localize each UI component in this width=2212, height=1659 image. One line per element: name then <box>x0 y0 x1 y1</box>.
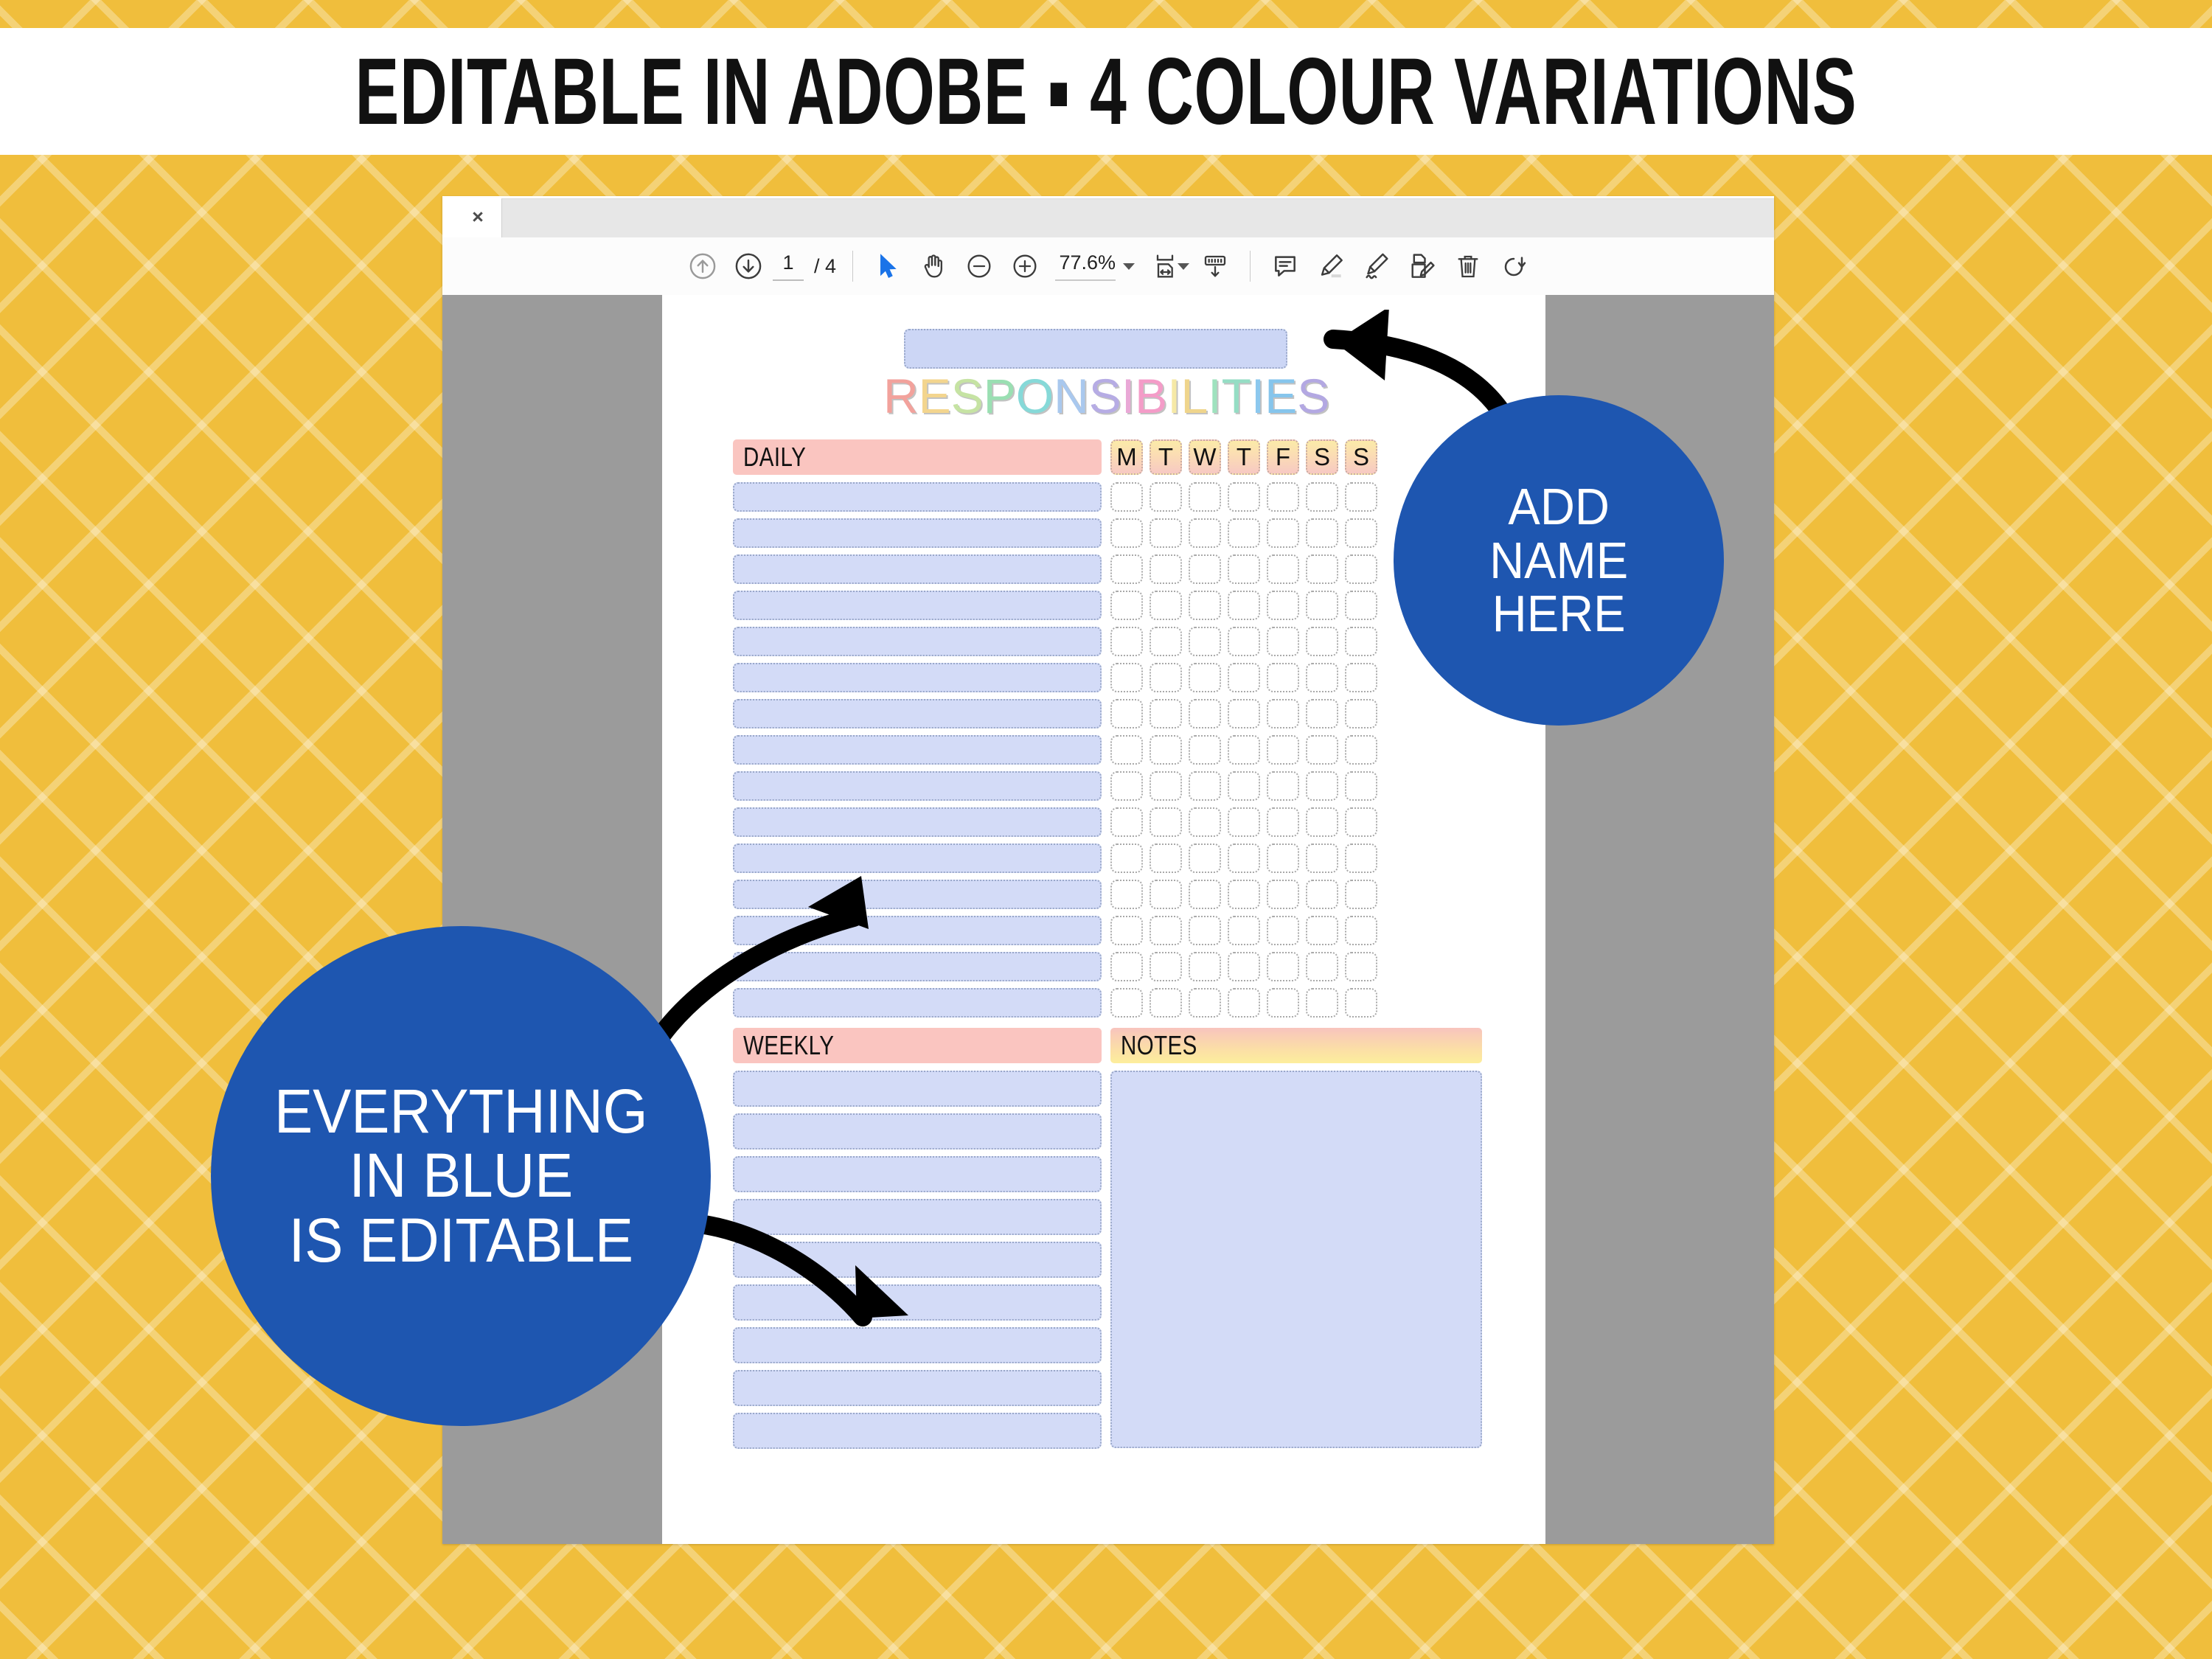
daily-task-field[interactable] <box>733 844 1102 873</box>
daily-checkbox[interactable] <box>1189 880 1221 909</box>
daily-checkbox[interactable] <box>1345 880 1377 909</box>
daily-checkbox[interactable] <box>1110 880 1143 909</box>
daily-checkbox-group <box>1110 807 1377 837</box>
tab-background[interactable] <box>501 198 1774 238</box>
daily-checkbox[interactable] <box>1228 952 1260 981</box>
zoom-level-input[interactable]: 77.6% <box>1055 251 1116 281</box>
daily-checkbox[interactable] <box>1267 807 1299 837</box>
daily-section-header-row: DAILY MTWTFSS <box>733 439 1482 475</box>
daily-task-field[interactable] <box>733 554 1102 584</box>
daily-task-field[interactable] <box>733 988 1102 1018</box>
daily-checkbox[interactable] <box>1267 518 1299 548</box>
daily-checkbox[interactable] <box>1189 807 1221 837</box>
daily-row <box>733 699 1482 728</box>
weekly-header-bar: WEEKLY <box>733 1028 1102 1063</box>
daily-row <box>733 663 1482 692</box>
title-letter-1: E <box>919 369 951 423</box>
daily-task-field[interactable] <box>733 952 1102 981</box>
daily-checkbox-group <box>1110 591 1377 620</box>
promo-banner-text: EDITABLE IN ADOBE ▪ 4 COLOUR VARIATIONS <box>355 38 1857 146</box>
daily-checkbox[interactable] <box>1306 771 1338 801</box>
toolbar-divider <box>852 251 853 282</box>
daily-checkbox[interactable] <box>1110 591 1143 620</box>
weekly-section: WEEKLY <box>733 1028 1102 1455</box>
daily-checkbox-group <box>1110 663 1377 692</box>
promo-banner: EDITABLE IN ADOBE ▪ 4 COLOUR VARIATIONS <box>0 28 2212 155</box>
daily-checkbox[interactable] <box>1267 699 1299 728</box>
daily-checkbox[interactable] <box>1228 916 1260 945</box>
daily-task-field[interactable] <box>733 482 1102 512</box>
daily-checkbox[interactable] <box>1150 482 1182 512</box>
daily-checkbox-group <box>1110 554 1377 584</box>
daily-checkbox[interactable] <box>1189 699 1221 728</box>
daily-checkbox[interactable] <box>1306 952 1338 981</box>
daily-checkbox[interactable] <box>1306 554 1338 584</box>
daily-checkbox[interactable] <box>1189 844 1221 873</box>
daily-row <box>733 482 1482 512</box>
daily-header-label: DAILY <box>743 442 806 473</box>
notes-header-label: NOTES <box>1121 1030 1197 1061</box>
weekly-task-field[interactable] <box>733 1413 1102 1449</box>
daily-checkbox[interactable] <box>1228 771 1260 801</box>
weekday-tile-5: S <box>1306 439 1338 475</box>
daily-checkbox[interactable] <box>1110 663 1143 692</box>
notes-textarea[interactable] <box>1110 1071 1482 1448</box>
zoom-in-icon[interactable] <box>1002 243 1048 289</box>
daily-checkbox[interactable] <box>1306 735 1338 765</box>
daily-task-field[interactable] <box>733 880 1102 909</box>
daily-checkbox[interactable] <box>1110 699 1143 728</box>
stamp-edit-icon[interactable] <box>1399 243 1445 289</box>
daily-checkbox[interactable] <box>1306 699 1338 728</box>
daily-checkbox[interactable] <box>1150 952 1182 981</box>
daily-checkbox[interactable] <box>1189 518 1221 548</box>
next-page-icon[interactable] <box>726 243 771 289</box>
title-letter-10: L <box>1181 369 1208 423</box>
daily-checkbox[interactable] <box>1228 988 1260 1018</box>
daily-checkbox[interactable] <box>1189 735 1221 765</box>
daily-checkbox[interactable] <box>1345 699 1377 728</box>
title-letter-6: S <box>1089 369 1121 423</box>
daily-task-field[interactable] <box>733 518 1102 548</box>
daily-checkbox[interactable] <box>1267 591 1299 620</box>
weekday-tile-3: T <box>1228 439 1260 475</box>
daily-checkbox[interactable] <box>1345 952 1377 981</box>
daily-header-bar: DAILY <box>733 439 1102 475</box>
weekly-task-field[interactable] <box>733 1242 1102 1278</box>
daily-row <box>733 554 1482 584</box>
daily-checkbox[interactable] <box>1345 663 1377 692</box>
daily-checkbox[interactable] <box>1345 916 1377 945</box>
weekly-header-label: WEEKLY <box>743 1030 834 1061</box>
daily-checkbox[interactable] <box>1110 518 1143 548</box>
hand-tool-icon[interactable] <box>911 243 956 289</box>
daily-checkbox[interactable] <box>1228 699 1260 728</box>
daily-rows <box>733 482 1482 1018</box>
weekly-task-field[interactable] <box>733 1156 1102 1192</box>
daily-task-field[interactable] <box>733 627 1102 656</box>
daily-checkbox[interactable] <box>1110 844 1143 873</box>
daily-row <box>733 844 1482 873</box>
daily-checkbox[interactable] <box>1345 771 1377 801</box>
daily-checkbox[interactable] <box>1267 663 1299 692</box>
lower-sections: WEEKLY NOTES <box>733 1028 1482 1455</box>
daily-checkbox[interactable] <box>1228 482 1260 512</box>
daily-row <box>733 880 1482 909</box>
daily-checkbox[interactable] <box>1228 663 1260 692</box>
daily-checkbox[interactable] <box>1306 482 1338 512</box>
title-letter-3: P <box>984 369 1016 423</box>
daily-checkbox[interactable] <box>1267 627 1299 656</box>
daily-checkbox[interactable] <box>1306 518 1338 548</box>
daily-checkbox[interactable] <box>1150 988 1182 1018</box>
weekly-task-field[interactable] <box>733 1370 1102 1406</box>
daily-checkbox[interactable] <box>1345 591 1377 620</box>
zoom-out-icon[interactable] <box>956 243 1002 289</box>
daily-checkbox[interactable] <box>1345 554 1377 584</box>
daily-task-field[interactable] <box>733 807 1102 837</box>
daily-checkbox-group <box>1110 699 1377 728</box>
daily-checkbox[interactable] <box>1228 844 1260 873</box>
daily-checkbox[interactable] <box>1189 952 1221 981</box>
daily-checkbox[interactable] <box>1150 627 1182 656</box>
daily-checkbox[interactable] <box>1345 735 1377 765</box>
daily-row <box>733 988 1482 1018</box>
daily-checkbox-group <box>1110 988 1377 1018</box>
daily-checkbox[interactable] <box>1150 699 1182 728</box>
daily-checkbox[interactable] <box>1150 735 1182 765</box>
daily-checkbox[interactable] <box>1150 844 1182 873</box>
weekly-task-field[interactable] <box>733 1199 1102 1235</box>
daily-checkbox[interactable] <box>1150 807 1182 837</box>
daily-checkbox-group <box>1110 952 1377 981</box>
highlight-icon[interactable] <box>1308 243 1354 289</box>
daily-checkbox[interactable] <box>1306 844 1338 873</box>
daily-checkbox[interactable] <box>1306 663 1338 692</box>
daily-checkbox-group <box>1110 627 1377 656</box>
daily-checkbox[interactable] <box>1150 554 1182 584</box>
title-letter-14: E <box>1265 369 1297 423</box>
add-name-here-callout: ADDNAMEHERE <box>1394 395 1724 726</box>
rotate-icon[interactable] <box>1491 243 1537 289</box>
daily-row <box>733 591 1482 620</box>
title-letter-15: S <box>1297 369 1329 423</box>
daily-task-field[interactable] <box>733 735 1102 765</box>
daily-checkbox[interactable] <box>1228 554 1260 584</box>
page-title: RESPONSIBILITIES <box>883 369 1326 423</box>
weekly-task-field[interactable] <box>733 1113 1102 1150</box>
daily-checkbox-group <box>1110 482 1377 512</box>
add-name-here-line-2: HERE <box>1489 587 1628 641</box>
daily-checkbox[interactable] <box>1150 518 1182 548</box>
daily-row <box>733 916 1482 945</box>
daily-checkbox[interactable] <box>1267 988 1299 1018</box>
weekly-rows <box>733 1071 1102 1449</box>
add-name-here-line-0: ADD <box>1489 480 1628 534</box>
daily-checkbox[interactable] <box>1306 807 1338 837</box>
daily-checkbox[interactable] <box>1306 988 1338 1018</box>
daily-checkbox[interactable] <box>1150 663 1182 692</box>
daily-task-field[interactable] <box>733 916 1102 945</box>
daily-checkbox[interactable] <box>1150 880 1182 909</box>
daily-checkbox[interactable] <box>1110 952 1143 981</box>
daily-checkbox[interactable] <box>1345 807 1377 837</box>
daily-checkbox[interactable] <box>1189 627 1221 656</box>
daily-task-field[interactable] <box>733 699 1102 728</box>
name-field[interactable] <box>904 329 1287 369</box>
daily-row <box>733 952 1482 981</box>
daily-checkbox[interactable] <box>1110 988 1143 1018</box>
daily-checkbox[interactable] <box>1345 518 1377 548</box>
daily-checkbox[interactable] <box>1228 518 1260 548</box>
daily-row <box>733 771 1482 801</box>
daily-checkbox[interactable] <box>1110 554 1143 584</box>
daily-checkbox[interactable] <box>1150 916 1182 945</box>
daily-row <box>733 518 1482 548</box>
page-total-label: / 4 <box>814 255 836 278</box>
daily-task-field[interactable] <box>733 771 1102 801</box>
daily-checkbox[interactable] <box>1189 663 1221 692</box>
weekly-task-field[interactable] <box>733 1284 1102 1321</box>
close-icon[interactable]: × <box>463 202 493 232</box>
title-letter-13: I <box>1251 369 1265 423</box>
daily-checkbox-group <box>1110 771 1377 801</box>
title-letter-5: N <box>1054 369 1089 423</box>
scroll-down-icon[interactable] <box>1192 243 1238 289</box>
daily-checkbox-group <box>1110 518 1377 548</box>
title-letter-0: R <box>883 369 919 423</box>
sign-icon[interactable] <box>1354 243 1399 289</box>
daily-row <box>733 735 1482 765</box>
title-letter-2: S <box>951 369 984 423</box>
toolbar-divider-2 <box>1250 251 1251 282</box>
daily-checkbox[interactable] <box>1110 482 1143 512</box>
title-letter-11: I <box>1208 369 1221 423</box>
daily-checkbox-group <box>1110 880 1377 909</box>
weekly-task-field[interactable] <box>733 1327 1102 1363</box>
weekday-header-tiles: MTWTFSS <box>1110 439 1377 475</box>
tab-strip: × <box>442 196 1774 237</box>
daily-checkbox-group <box>1110 735 1377 765</box>
daily-checkbox[interactable] <box>1267 952 1299 981</box>
daily-checkbox[interactable] <box>1345 627 1377 656</box>
previous-page-icon[interactable] <box>680 243 726 289</box>
daily-checkbox[interactable] <box>1345 988 1377 1018</box>
page-navigation: 1 / 4 <box>773 251 836 281</box>
delete-icon[interactable] <box>1445 243 1491 289</box>
title-letter-12: T <box>1222 369 1251 423</box>
daily-checkbox[interactable] <box>1189 554 1221 584</box>
daily-checkbox[interactable] <box>1267 771 1299 801</box>
notes-header-bar: NOTES <box>1110 1028 1482 1063</box>
weekday-tile-0: M <box>1110 439 1143 475</box>
daily-checkbox[interactable] <box>1150 771 1182 801</box>
weekday-tile-2: W <box>1189 439 1221 475</box>
daily-task-field[interactable] <box>733 591 1102 620</box>
daily-checkbox[interactable] <box>1267 844 1299 873</box>
comment-icon[interactable] <box>1262 243 1308 289</box>
add-name-here-line-1: NAME <box>1489 534 1628 588</box>
weekday-tile-6: S <box>1345 439 1377 475</box>
daily-checkbox[interactable] <box>1110 627 1143 656</box>
pdf-toolbar: 1 / 4 77.6% <box>442 237 1774 296</box>
daily-checkbox[interactable] <box>1228 807 1260 837</box>
daily-checkbox[interactable] <box>1267 554 1299 584</box>
daily-checkbox[interactable] <box>1228 735 1260 765</box>
daily-checkbox[interactable] <box>1189 482 1221 512</box>
daily-checkbox[interactable] <box>1306 627 1338 656</box>
weekday-tile-1: T <box>1150 439 1182 475</box>
everything-in-blue-line-0: EVERYTHING <box>274 1079 647 1144</box>
daily-checkbox[interactable] <box>1267 482 1299 512</box>
daily-checkbox[interactable] <box>1189 988 1221 1018</box>
daily-checkbox-group <box>1110 916 1377 945</box>
daily-checkbox[interactable] <box>1110 807 1143 837</box>
page-fit-caret-icon[interactable] <box>1178 263 1189 270</box>
daily-checkbox[interactable] <box>1228 591 1260 620</box>
notes-section: NOTES <box>1110 1028 1482 1455</box>
weekday-tile-4: F <box>1267 439 1299 475</box>
title-letter-9: I <box>1167 369 1180 423</box>
weekly-task-field[interactable] <box>733 1071 1102 1107</box>
everything-in-blue-callout: EVERYTHINGIN BLUEIS EDITABLE <box>211 926 711 1426</box>
daily-checkbox[interactable] <box>1110 771 1143 801</box>
daily-checkbox[interactable] <box>1228 880 1260 909</box>
daily-checkbox[interactable] <box>1189 591 1221 620</box>
title-letter-4: O <box>1016 369 1054 423</box>
daily-checkbox[interactable] <box>1345 844 1377 873</box>
daily-checkbox[interactable] <box>1267 916 1299 945</box>
zoom-control: 77.6% <box>1055 251 1135 281</box>
chevron-down-icon[interactable] <box>1123 263 1135 270</box>
daily-checkbox[interactable] <box>1267 735 1299 765</box>
everything-in-blue-line-2: IS EDITABLE <box>274 1208 647 1273</box>
daily-checkbox[interactable] <box>1189 916 1221 945</box>
daily-task-field[interactable] <box>733 663 1102 692</box>
daily-row <box>733 807 1482 837</box>
daily-checkbox[interactable] <box>1110 735 1143 765</box>
title-letter-8: B <box>1135 369 1167 423</box>
daily-checkbox[interactable] <box>1189 771 1221 801</box>
daily-checkbox[interactable] <box>1228 627 1260 656</box>
daily-row <box>733 627 1482 656</box>
title-letter-7: I <box>1121 369 1135 423</box>
select-tool-icon[interactable] <box>865 243 911 289</box>
daily-checkbox[interactable] <box>1306 591 1338 620</box>
daily-checkbox[interactable] <box>1150 591 1182 620</box>
daily-checkbox[interactable] <box>1110 916 1143 945</box>
everything-in-blue-line-1: IN BLUE <box>274 1144 647 1208</box>
daily-checkbox[interactable] <box>1267 880 1299 909</box>
daily-checkbox[interactable] <box>1306 880 1338 909</box>
daily-checkbox[interactable] <box>1345 482 1377 512</box>
page-number-input[interactable]: 1 <box>773 251 804 281</box>
daily-checkbox[interactable] <box>1306 916 1338 945</box>
daily-checkbox-group <box>1110 844 1377 873</box>
